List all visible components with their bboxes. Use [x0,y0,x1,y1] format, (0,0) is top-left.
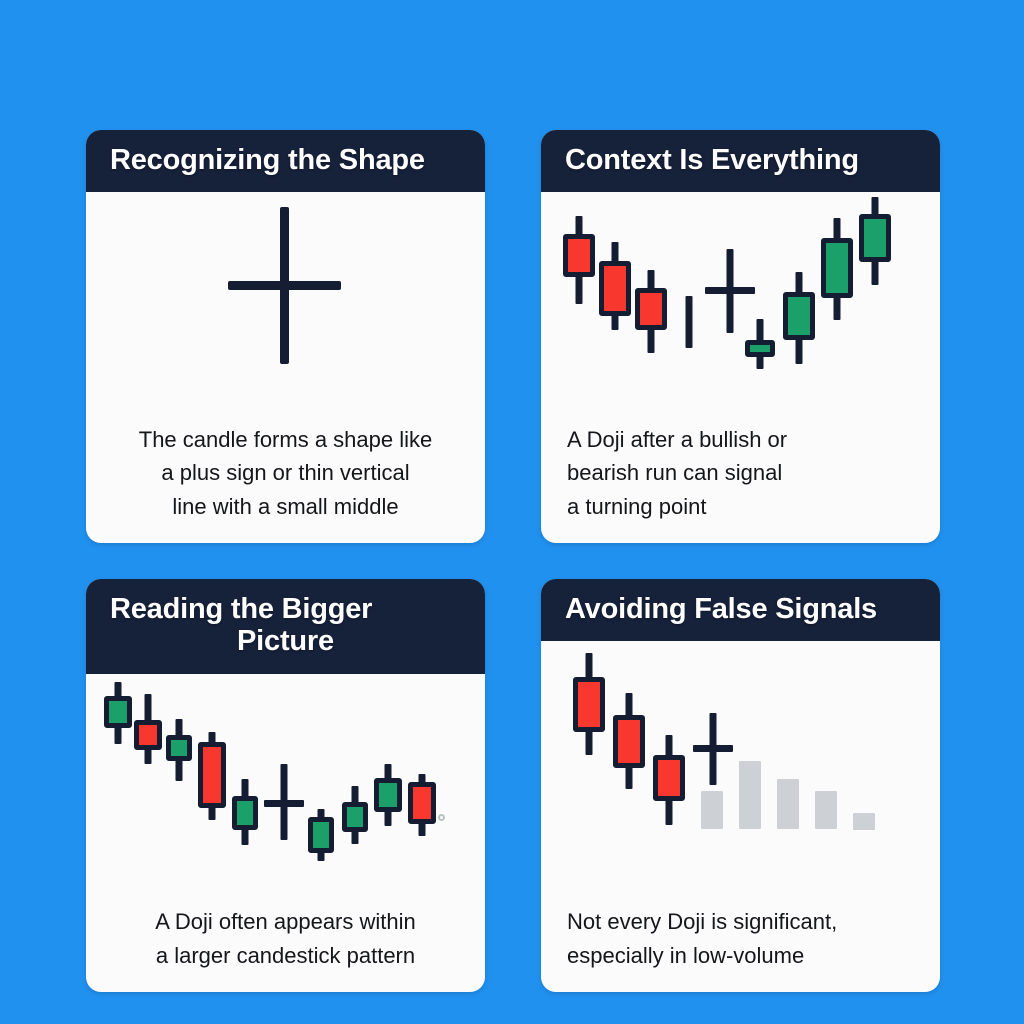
candle-body [783,292,815,340]
card-avoiding-false-signals: Avoiding False Signals [541,579,940,992]
candle-2-bearish [635,270,667,353]
volume-bar-0 [701,791,723,829]
candle-body [408,782,436,824]
candle-body [232,796,258,830]
candle-7-bullish [342,786,368,844]
candle-0-bearish [573,653,605,755]
card-body-context-is-everything: A Doji after a bullish or bearish run ca… [541,192,940,543]
candle-1-bearish [134,694,162,764]
doji-horizontal-line [693,745,733,752]
candle-body [104,696,132,728]
candle-2-bearish [653,735,685,825]
doji-horizontal-line [264,800,304,807]
candlestick-series-context [541,192,940,422]
candle-body [134,720,162,750]
watermark-dot [438,814,445,821]
candle-3-thin-line [673,296,705,348]
chart-reading-the-bigger-picture [86,674,485,905]
doji-horizontal-line [228,281,341,290]
candle-body [374,778,402,812]
card-caption-avoiding-false-signals: Not every Doji is significant, especiall… [541,905,940,992]
volume-bar-3 [815,791,837,829]
card-title-line-2: Picture [110,625,461,657]
infographic-board: Recognizing the Shape The candle forms a… [0,0,1024,1024]
card-caption-recognizing-the-shape: The candle forms a shape like a plus sig… [86,423,485,543]
card-reading-the-bigger-picture: Reading the Bigger Picture [86,579,485,992]
candle-body [653,755,685,801]
candle-body [821,238,853,298]
volume-bar-2 [777,779,799,829]
candle-5-bullish [745,319,775,369]
candle-7-bullish [821,218,853,320]
candle-body [166,735,192,761]
volume-bar-1 [739,761,761,829]
candle-body [573,677,605,732]
doji-figure [86,192,485,422]
card-title-context-is-everything: Context Is Everything [541,130,940,192]
card-caption-reading-the-bigger-picture: A Doji often appears within a larger can… [86,905,485,992]
candle-4-bullish [232,779,258,845]
candle-body [342,802,368,832]
card-body-avoiding-false-signals: Not every Doji is significant, especiall… [541,641,940,992]
candlestick-series-false-signals [541,641,940,905]
card-recognizing-the-shape: Recognizing the Shape The candle forms a… [86,130,485,543]
candle-2-bullish [166,719,192,781]
doji-horizontal-line [705,287,755,294]
candle-6-bullish [308,809,334,861]
candle-body [745,340,775,357]
card-caption-context-is-everything: A Doji after a bullish or bearish run ca… [541,423,940,543]
candle-1-bearish [599,242,631,330]
chart-recognizing-the-shape [86,192,485,422]
candle-1-bearish [613,693,645,789]
card-context-is-everything: Context Is Everything [541,130,940,543]
chart-context-is-everything [541,192,940,422]
candle-body [859,214,891,262]
volume-bar-4 [853,813,875,830]
candle-body [613,715,645,768]
candle-body [635,288,667,330]
card-title-line-1: Reading the Bigger [110,593,461,625]
candle-6-bullish [783,272,815,364]
card-body-reading-the-bigger-picture: A Doji often appears within a larger can… [86,674,485,992]
candlestick-series-bigger-picture [86,674,485,905]
card-title-avoiding-false-signals: Avoiding False Signals [541,579,940,641]
candle-8-bullish [374,764,402,826]
candle-5-doji [264,764,304,840]
card-title-recognizing-the-shape: Recognizing the Shape [86,130,485,192]
candle-3-doji [693,713,733,785]
candle-3-bearish [198,732,226,820]
candle-9-bearish [408,774,436,836]
candle-8-bullish [859,197,891,285]
candle-body [563,234,595,277]
candle-0-bearish [563,216,595,304]
candle-body [198,742,226,808]
card-title-reading-the-bigger-picture: Reading the Bigger Picture [86,579,485,674]
card-body-recognizing-the-shape: The candle forms a shape like a plus sig… [86,192,485,543]
candle-body [599,261,631,316]
candle-wick [686,296,693,348]
candle-body [308,817,334,853]
chart-avoiding-false-signals [541,641,940,905]
candle-0-bullish [104,682,132,744]
